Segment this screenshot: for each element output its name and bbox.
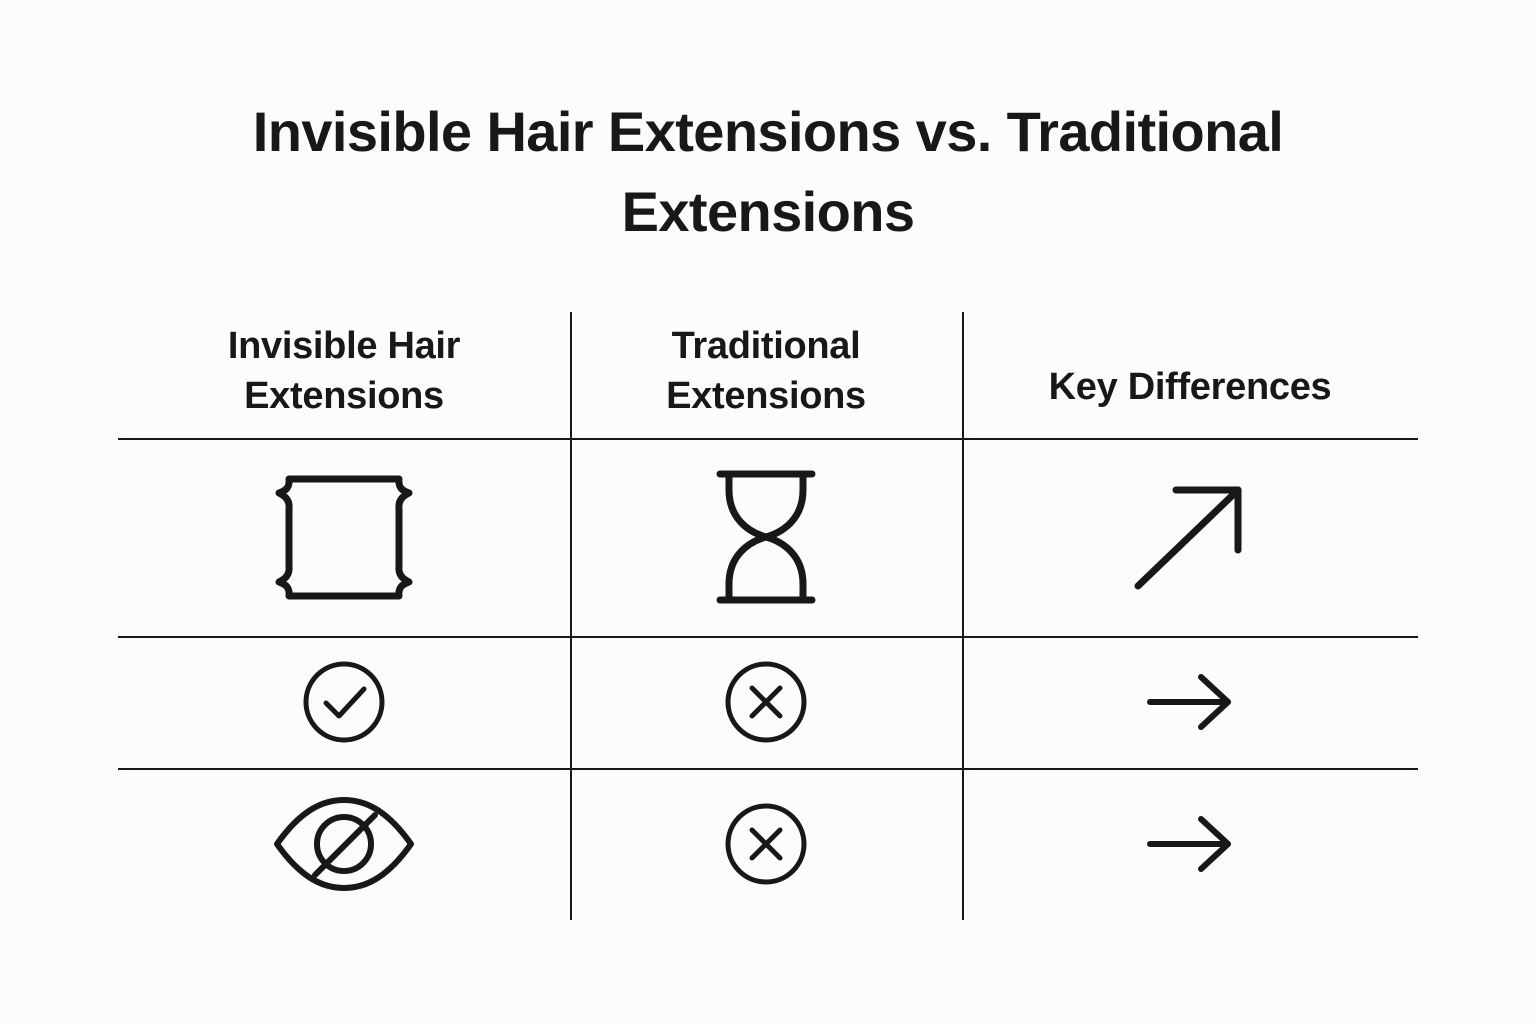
- column-header-key-differences: Key Differences: [962, 312, 1418, 438]
- pillow-icon: [269, 465, 419, 610]
- table-row: [118, 636, 1418, 768]
- row-divider-3: [118, 768, 1418, 770]
- eye-slash-icon: [271, 794, 417, 894]
- cell-traditional-row-2: [570, 636, 962, 768]
- table-header-row: Invisible Hair Extensions Traditional Ex…: [118, 312, 1418, 438]
- cell-invisible-row-3: [118, 768, 570, 920]
- cell-invisible-row-2: [118, 636, 570, 768]
- arrow-right-icon: [1144, 671, 1236, 733]
- cell-traditional-row-3: [570, 768, 962, 920]
- hourglass-icon: [708, 466, 824, 608]
- x-circle-icon: [720, 798, 812, 890]
- cell-key-differences-row-2: [962, 636, 1418, 768]
- cell-key-differences-row-3: [962, 768, 1418, 920]
- table-row: [118, 438, 1418, 636]
- comparison-table: Invisible Hair Extensions Traditional Ex…: [118, 312, 1418, 920]
- x-circle-icon: [720, 656, 812, 748]
- infographic-canvas: Invisible Hair Extensions vs. Traditiona…: [0, 0, 1536, 1024]
- column-header-invisible: Invisible Hair Extensions: [118, 312, 570, 438]
- column-divider-1: [570, 312, 572, 920]
- column-header-traditional: Traditional Extensions: [570, 312, 962, 438]
- column-divider-2: [962, 312, 964, 920]
- arrow-right-icon: [1144, 813, 1236, 875]
- cell-traditional-row-1: [570, 438, 962, 636]
- table-row: [118, 768, 1418, 920]
- cell-key-differences-row-1: [962, 438, 1418, 636]
- check-circle-icon: [298, 656, 390, 748]
- row-divider-2: [118, 636, 1418, 638]
- cell-invisible-row-1: [118, 438, 570, 636]
- arrow-up-right-icon: [1126, 476, 1254, 598]
- row-divider-1: [118, 438, 1418, 440]
- page-title: Invisible Hair Extensions vs. Traditiona…: [118, 92, 1418, 251]
